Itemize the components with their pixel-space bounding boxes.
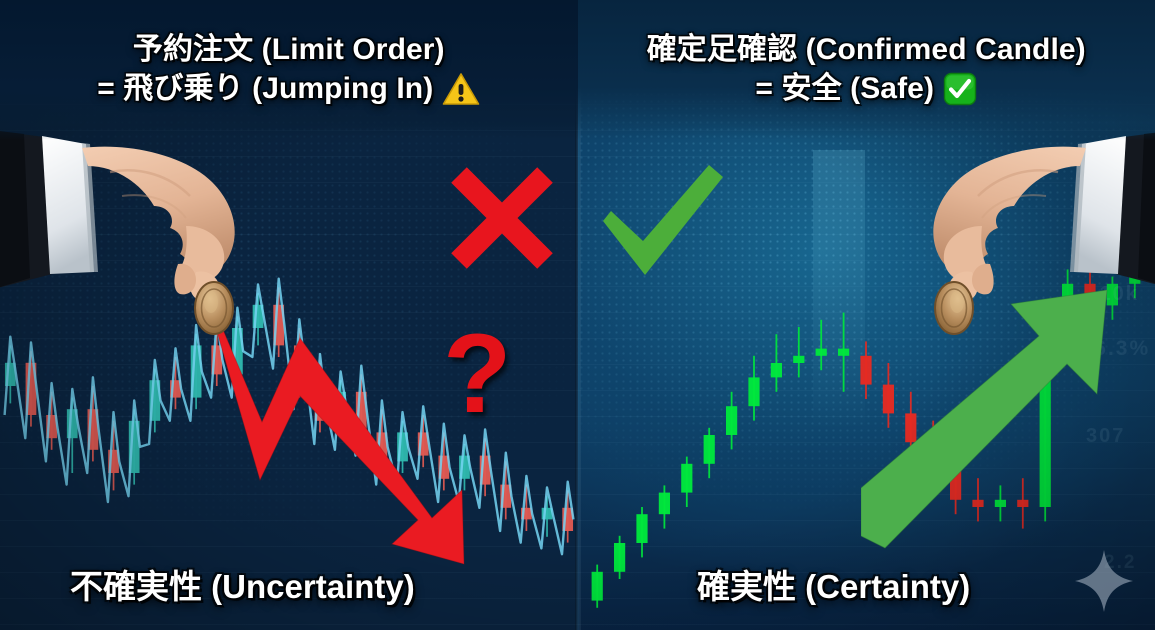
hand-dropping-coin-icon-left: [0, 122, 290, 342]
check-mark-icon: [597, 163, 727, 278]
left-header-line1: 予約注文 (Limit Order): [133, 32, 445, 69]
comparison-infographic: 17105.0637.02.10k=6.3%3072.2: [0, 0, 1155, 630]
warning-triangle-icon: [442, 72, 480, 106]
right-caption: 確実性 (Certainty): [697, 560, 970, 608]
right-header-line1: 確定足確認 (Confirmed Candle): [647, 32, 1086, 69]
right-header-line1-text: 確定足確認 (Confirmed Candle): [647, 32, 1086, 69]
green-check-box-icon: [943, 72, 977, 106]
right-header-line2: = 安全 (Safe): [755, 71, 977, 108]
left-header-line2: = 飛び乗り (Jumping In): [97, 71, 480, 108]
left-caption: 不確実性 (Uncertainty): [70, 560, 415, 608]
right-header-line2-text: = 安全 (Safe): [755, 71, 934, 108]
right-header: 確定足確認 (Confirmed Candle) = 安全 (Safe): [578, 0, 1155, 140]
sparkle-star-icon: [1073, 548, 1135, 614]
left-header-line2-text: = 飛び乗り (Jumping In): [97, 71, 433, 108]
hand-dropping-coin-icon-right: [878, 122, 1155, 342]
left-header: 予約注文 (Limit Order) = 飛び乗り (Jumping In): [0, 0, 578, 140]
x-mark-icon: [447, 163, 557, 273]
highlight-column: [813, 150, 865, 430]
left-header-line1-text: 予約注文 (Limit Order): [133, 32, 445, 69]
question-mark-icon: ?: [443, 318, 511, 430]
header-band: 予約注文 (Limit Order) = 飛び乗り (Jumping In) 確…: [0, 0, 1155, 140]
